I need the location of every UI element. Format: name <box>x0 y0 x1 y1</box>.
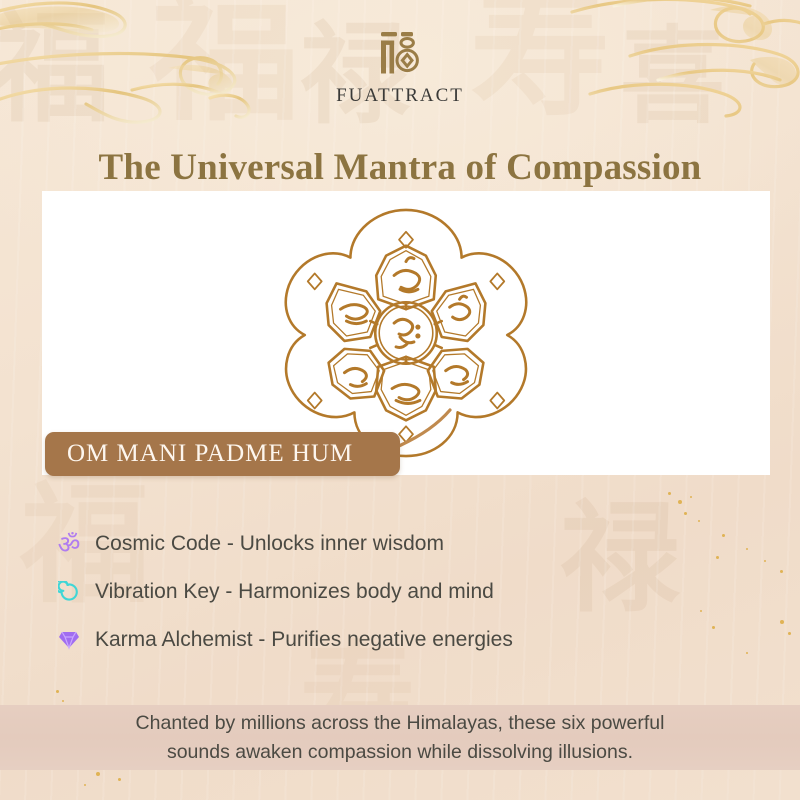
gem-icon <box>52 630 86 650</box>
spiral-icon <box>52 581 86 603</box>
list-item: ॐ Cosmic Code - Unlocks inner wisdom <box>52 521 692 567</box>
page-title: The Universal Mantra of Compassion <box>0 146 800 189</box>
benefit-label: Karma Alchemist - Purifies negative ener… <box>86 628 513 652</box>
list-item: Vibration Key - Harmonizes body and mind <box>52 569 692 615</box>
brand-header: FUATTRACT <box>0 30 800 107</box>
benefits-list: ॐ Cosmic Code - Unlocks inner wisdom Vib… <box>52 521 692 665</box>
brand-name: FUATTRACT <box>336 85 464 107</box>
om-symbol-icon: ॐ <box>52 532 86 557</box>
poster-canvas: 福 福 禄 寿 喜 福 禄 寿 <box>0 0 800 800</box>
mantra-banner[interactable]: OM MANI PADME HUM <box>45 432 400 476</box>
footer-line-1: Chanted by millions across the Himalayas… <box>136 709 665 737</box>
footer-banner: Chanted by millions across the Himalayas… <box>0 705 800 770</box>
benefit-label: Cosmic Code - Unlocks inner wisdom <box>86 532 444 556</box>
footer-line-2: sounds awaken compassion while dissolvin… <box>167 738 633 766</box>
fuattract-logo-icon <box>377 30 423 78</box>
benefit-label: Vibration Key - Harmonizes body and mind <box>86 580 494 604</box>
mantra-text: OM MANI PADME HUM <box>67 440 353 468</box>
list-item: Karma Alchemist - Purifies negative ener… <box>52 617 692 663</box>
